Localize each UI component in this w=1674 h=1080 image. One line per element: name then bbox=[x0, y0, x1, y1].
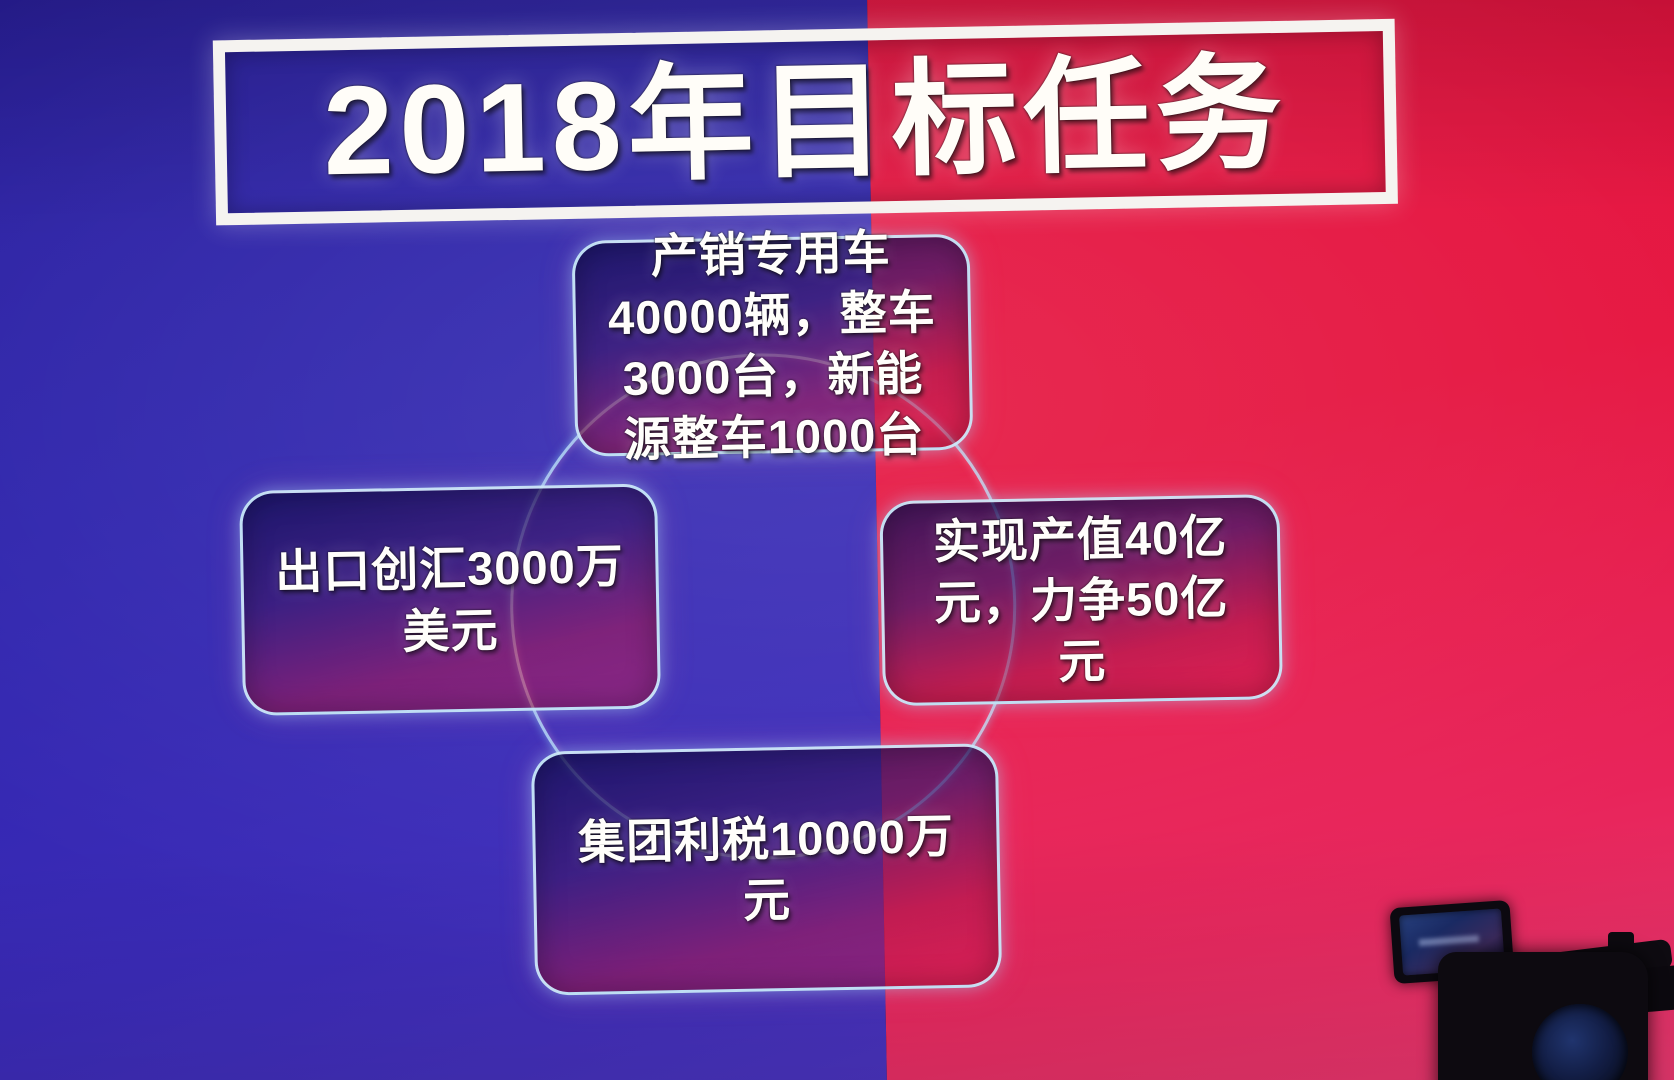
goal-card-profit-tax-text: 集团利税10000万元 bbox=[561, 805, 972, 935]
camera-lcd-glare bbox=[1419, 935, 1479, 946]
goal-card-production-text: 产销专用车40000辆，整车3000台，新能源整车1000台 bbox=[600, 220, 944, 471]
page-title: 2018年目标任务 bbox=[225, 31, 1386, 213]
goal-card-export: 出口创汇3000万美元 bbox=[239, 483, 661, 716]
video-camera-icon bbox=[1360, 838, 1674, 1080]
title-frame: 2018年目标任务 bbox=[213, 19, 1398, 226]
photo-of-presentation-screen: 2018年目标任务 产销专用车40000辆，整车3000台，新能源整车1000台… bbox=[0, 0, 1674, 1080]
goal-card-output-value-text: 实现产值40亿元，力争50亿元 bbox=[909, 505, 1254, 695]
camera-microphone bbox=[1608, 932, 1634, 950]
goal-card-profit-tax: 集团利税10000万元 bbox=[531, 743, 1002, 996]
goal-card-export-text: 出口创汇3000万美元 bbox=[269, 535, 631, 664]
goal-card-production: 产销专用车40000辆，整车3000台，新能源整车1000台 bbox=[571, 234, 973, 457]
goal-card-output-value: 实现产值40亿元，力争50亿元 bbox=[879, 494, 1283, 706]
